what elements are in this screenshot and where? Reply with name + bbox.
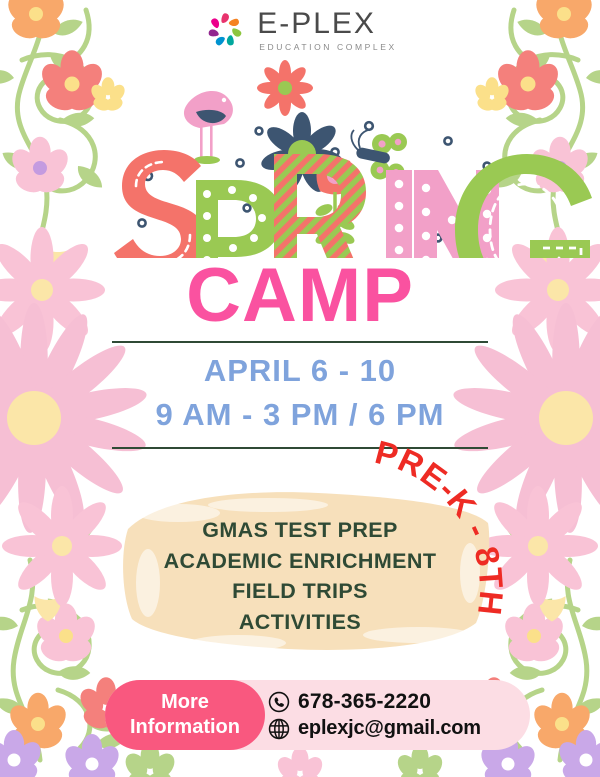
spring-wordart bbox=[0, 58, 600, 258]
email-address: eplexjc@gmail.com bbox=[298, 717, 481, 740]
camp-dates: APRIL 6 - 10 bbox=[0, 349, 600, 393]
brand-tagline: EDUCATION COMPLEX bbox=[257, 43, 397, 52]
bird-icon bbox=[184, 91, 233, 164]
svg-text:PRE-K - 8TH: PRE-K - 8TH bbox=[371, 440, 510, 618]
spring-letter-p bbox=[196, 180, 282, 258]
brand-logo: E-PLEX EDUCATION COMPLEX bbox=[0, 8, 600, 52]
more-information-button[interactable]: More Information bbox=[105, 680, 265, 750]
globe-icon bbox=[268, 718, 290, 740]
email-row[interactable]: eplexjc@gmail.com bbox=[268, 717, 530, 740]
grade-range-badge: PRE-K - 8TH bbox=[355, 440, 555, 630]
more-information-line1: More bbox=[161, 690, 209, 715]
phone-row[interactable]: 678-365-2220 bbox=[268, 690, 530, 714]
camp-heading: CAMP bbox=[0, 258, 600, 334]
brand-logo-text: E-PLEX EDUCATION COMPLEX bbox=[257, 9, 397, 52]
spring-letter-i bbox=[386, 170, 412, 258]
spring-letter-g bbox=[455, 154, 592, 258]
spring-camp-flyer: E-PLEX EDUCATION COMPLEX bbox=[0, 0, 600, 777]
phone-icon bbox=[268, 691, 290, 713]
camp-hours: 9 AM - 3 PM / 6 PM bbox=[0, 393, 600, 437]
more-information-line2: Information bbox=[130, 715, 240, 740]
grade-range-text: PRE-K - 8TH bbox=[371, 440, 510, 618]
divider-top bbox=[112, 341, 488, 343]
schedule-block: APRIL 6 - 10 9 AM - 3 PM / 6 PM bbox=[0, 349, 600, 437]
phone-number: 678-365-2220 bbox=[298, 690, 431, 714]
people-circle-logo-icon bbox=[203, 8, 247, 52]
contact-details: 678-365-2220 eplexjc@gmail.com bbox=[268, 684, 530, 746]
spring-letter-s bbox=[114, 150, 205, 258]
brand-name: E-PLEX bbox=[257, 9, 376, 39]
